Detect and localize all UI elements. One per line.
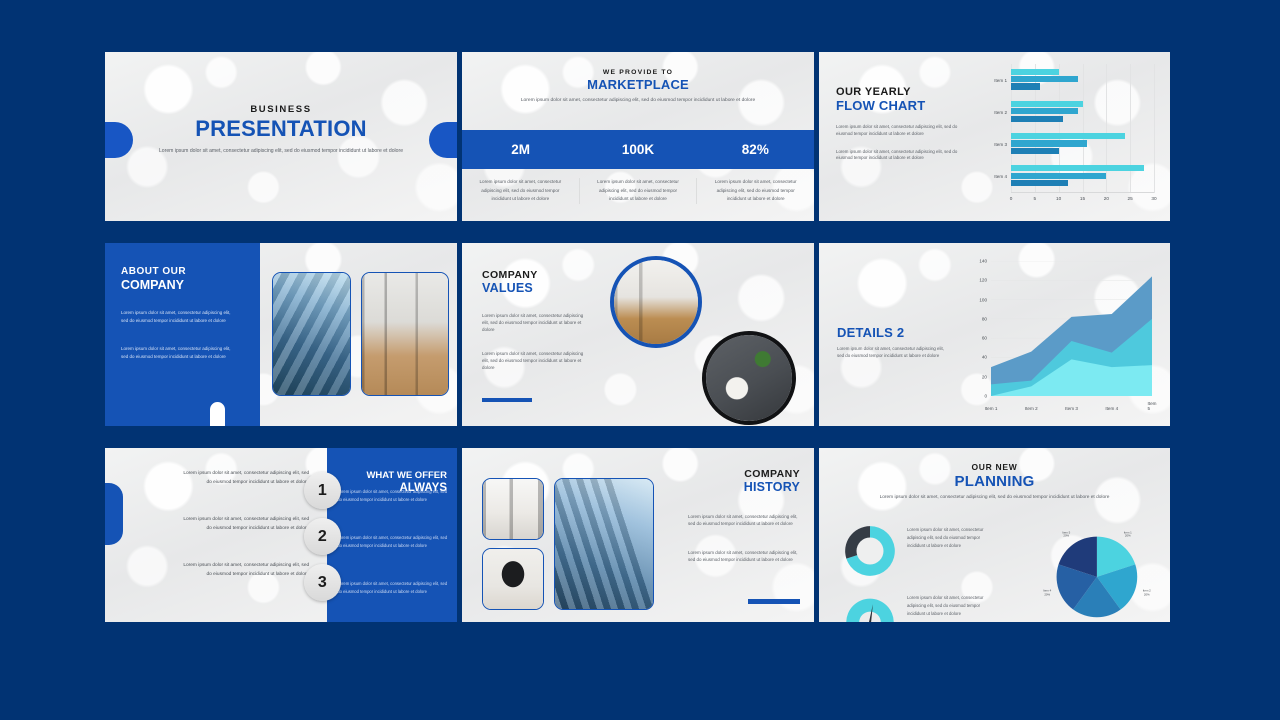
slide7-eyebrow: WHAT WE OFFER <box>327 470 447 481</box>
bar-x-tick-label: 20 <box>1104 196 1109 201</box>
bar-segment <box>1011 140 1087 146</box>
slide8-paragraph-1: Lorem ipsum dolor sit amet, consectetur … <box>688 514 800 528</box>
area-x-tick-label: Item 1 <box>985 406 998 411</box>
bar-segment <box>1011 180 1068 186</box>
slide-slot-1: BUSINESS PRESENTATION Lorem ipsum dolor … <box>105 52 462 243</box>
slide3-eyebrow: OUR YEARLY <box>836 86 964 98</box>
area-y-tick-label: 100 <box>959 297 987 302</box>
white-pill-shape <box>210 402 225 426</box>
slide4-paragraph-2: Lorem ipsum dolor sit amet, consectetur … <box>121 345 231 362</box>
area-y-tick-label: 80 <box>959 316 987 321</box>
stat-text-2: Lorem ipsum dolor sit amet, consectetur … <box>579 178 697 204</box>
bar-x-tick-label: 0 <box>1010 196 1013 201</box>
area-x-tick-label: Item 3 <box>1065 406 1078 411</box>
slide2-paragraph: Lorem ipsum dolor sit amet, consectetur … <box>462 96 814 105</box>
bar-category-label: Item 1 <box>973 78 1007 83</box>
blue-panel: ABOUT OUR COMPANY Lorem ipsum dolor sit … <box>105 243 260 426</box>
slide3-paragraph-1: Lorem ipsum dolor sit amet, consectetur … <box>836 124 964 138</box>
offer-right-text: Lorem ipsum dolor sit amet, consectetur … <box>337 534 449 550</box>
company-values-slide[interactable]: COMPANY VALUES Lorem ipsum dolor sit ame… <box>462 243 814 426</box>
slide8-title: HISTORY <box>670 480 800 494</box>
planning-slide[interactable]: OUR NEW PLANNING Lorem ipsum dolor sit a… <box>819 448 1170 622</box>
slide9-header: OUR NEW PLANNING Lorem ipsum dolor sit a… <box>819 448 1170 503</box>
slide-slot-3: OUR YEARLY FLOW CHART Lorem ipsum dolor … <box>819 52 1175 243</box>
slide3-text-block: OUR YEARLY FLOW CHART Lorem ipsum dolor … <box>836 86 964 162</box>
bar-segment <box>1011 83 1040 89</box>
bar-segment <box>1011 133 1125 139</box>
slide3-paragraph-2: Lorem ipsum dolor sit amet, consectetur … <box>836 149 964 163</box>
pie-slice-label: Item 220% <box>1143 590 1151 597</box>
bar-x-axis-line <box>1011 192 1154 193</box>
bar-gridline <box>1154 64 1155 193</box>
bar-x-tick-label: 15 <box>1080 196 1085 201</box>
photo-desk-overhead-circle <box>702 331 796 425</box>
bar-group: Item 2 <box>1011 96 1154 128</box>
slide6-title: DETAILS 2 <box>837 325 952 340</box>
bar-x-axis-ticks: 051015202530 <box>1011 196 1154 206</box>
area-y-tick-label: 120 <box>959 278 987 283</box>
bar-segment <box>1011 116 1063 122</box>
donut-svg <box>843 524 897 578</box>
slide-slot-4: ABOUT OUR COMPANY Lorem ipsum dolor sit … <box>105 243 462 448</box>
offer-left-text: Lorem ipsum dolor sit amet, consectetur … <box>181 470 309 488</box>
offer-step-number[interactable]: 1 <box>304 472 341 509</box>
slide-slot-2: WE PROVIDE TO MARKETPLACE Lorem ipsum do… <box>462 52 819 243</box>
gauge-chart <box>843 594 897 622</box>
donut-chart <box>843 524 897 578</box>
slide8-eyebrow: COMPANY <box>670 468 800 480</box>
slide5-paragraph-2: Lorem ipsum dolor sit amet, consectetur … <box>482 351 590 372</box>
offer-left-text: Lorem ipsum dolor sit amet, consectetur … <box>181 516 309 534</box>
marketplace-slide[interactable]: WE PROVIDE TO MARKETPLACE Lorem ipsum do… <box>462 52 814 221</box>
slide1-title: PRESENTATION <box>105 116 457 142</box>
left-blue-tab <box>105 483 123 545</box>
gauge-svg <box>843 594 897 622</box>
slide-deck-grid: BUSINESS PRESENTATION Lorem ipsum dolor … <box>105 52 1175 668</box>
slide2-header: WE PROVIDE TO MARKETPLACE Lorem ipsum do… <box>462 52 814 105</box>
stat-value-2: 100K <box>579 142 696 157</box>
bar-x-tick-label: 5 <box>1034 196 1037 201</box>
stat-text-1: Lorem ipsum dolor sit amet, consectetur … <box>462 178 579 204</box>
slide2-title: MARKETPLACE <box>462 77 814 92</box>
about-company-slide[interactable]: ABOUT OUR COMPANY Lorem ipsum dolor sit … <box>105 243 457 426</box>
area-x-tick-label: Item 2 <box>1025 406 1038 411</box>
slide1-paragraph: Lorem ipsum dolor sit amet, consectetur … <box>105 147 457 156</box>
offer-left-text: Lorem ipsum dolor sit amet, consectetur … <box>181 562 309 580</box>
slide-slot-9: OUR NEW PLANNING Lorem ipsum dolor sit a… <box>819 448 1175 644</box>
bar-group: Item 4 <box>1011 161 1154 193</box>
bar-category-label: Item 4 <box>973 174 1007 179</box>
stat-value-3: 82% <box>697 142 814 157</box>
photo-office-corridor <box>361 272 449 396</box>
bar-x-tick-label: 25 <box>1128 196 1133 201</box>
slide5-eyebrow: COMPANY <box>482 269 538 281</box>
title-slide[interactable]: BUSINESS PRESENTATION Lorem ipsum dolor … <box>105 52 457 221</box>
blue-underline <box>482 398 532 402</box>
bar-segment <box>1011 69 1059 75</box>
area-y-tick-label: 40 <box>959 355 987 360</box>
slide9-title: PLANNING <box>819 473 1170 490</box>
pie-slice-label: Item 420% <box>1043 590 1051 597</box>
slide-slot-7: WHAT WE OFFER ALWAYS Lorem ipsum dolor s… <box>105 448 462 644</box>
slide1-eyebrow: BUSINESS <box>105 104 457 115</box>
slide9-paragraph: Lorem ipsum dolor sit amet, consectetur … <box>819 494 1170 503</box>
slide3-title: FLOW CHART <box>836 98 964 113</box>
area-plot-area <box>991 261 1152 396</box>
bar-group: Item 1 <box>1011 64 1154 96</box>
slide4-title: COMPANY <box>121 278 184 292</box>
offer-step-number[interactable]: 3 <box>304 564 341 601</box>
slide2-eyebrow: WE PROVIDE TO <box>462 69 814 76</box>
donut-description: Lorem ipsum dolor sit amet, consectetur … <box>907 526 987 550</box>
photo-skyscraper <box>554 478 654 610</box>
slide-slot-5: COMPANY VALUES Lorem ipsum dolor sit ame… <box>462 243 819 448</box>
bar-group: Item 3 <box>1011 129 1154 161</box>
flow-chart-slide[interactable]: OUR YEARLY FLOW CHART Lorem ipsum dolor … <box>819 52 1170 221</box>
horizontal-bar-chart: Item 1Item 2Item 3Item 4 051015202530 <box>971 62 1160 211</box>
photo-area <box>260 243 457 426</box>
donut-hole <box>857 538 884 565</box>
slide4-paragraph-1: Lorem ipsum dolor sit amet, consectetur … <box>121 309 231 326</box>
blue-underline <box>748 599 800 604</box>
bar-segment <box>1011 173 1106 179</box>
area-y-tick-label: 20 <box>959 374 987 379</box>
slide9-eyebrow: OUR NEW <box>819 462 1170 472</box>
area-y-tick-label: 60 <box>959 336 987 341</box>
bar-category-label: Item 3 <box>973 142 1007 147</box>
bar-segment <box>1011 76 1078 82</box>
stats-description-row: Lorem ipsum dolor sit amet, consectetur … <box>462 178 814 204</box>
offer-right-text: Lorem ipsum dolor sit amet, consectetur … <box>337 580 449 596</box>
bar-segment <box>1011 101 1083 107</box>
title-block: BUSINESS PRESENTATION Lorem ipsum dolor … <box>105 104 457 156</box>
photo-workstation <box>482 548 544 610</box>
stats-band: 2M 100K 82% <box>462 130 814 169</box>
area-x-tick-label: Item 5 <box>1148 401 1157 411</box>
area-y-tick-label: 0 <box>959 394 987 399</box>
company-history-slide[interactable]: COMPANY HISTORY Lorem ipsum dolor sit am… <box>462 448 814 622</box>
bar-x-tick-label: 30 <box>1151 196 1156 201</box>
slide6-paragraph: Lorem ipsum dolor sit amet, consectetur … <box>837 346 952 360</box>
bar-x-tick-label: 10 <box>1056 196 1061 201</box>
area-chart: 020406080100120140Item 1Item 2Item 3Item… <box>959 255 1158 416</box>
slide5-title: VALUES <box>482 281 533 295</box>
stat-text-3: Lorem ipsum dolor sit amet, consectetur … <box>696 178 814 204</box>
bar-segment <box>1011 108 1078 114</box>
slide-slot-6: DETAILS 2 Lorem ipsum dolor sit amet, co… <box>819 243 1175 448</box>
bar-segment <box>1011 148 1059 154</box>
slide6-text-block: DETAILS 2 Lorem ipsum dolor sit amet, co… <box>837 325 952 360</box>
slide8-paragraph-2: Lorem ipsum dolor sit amet, consectetur … <box>688 550 800 564</box>
area-chart-svg <box>991 261 1152 396</box>
pie-chart: Item 120%Item 220%Item 320%Item 420%Item… <box>1042 522 1152 622</box>
bar-plot-area: Item 1Item 2Item 3Item 4 <box>1011 64 1154 193</box>
slide5-paragraph-1: Lorem ipsum dolor sit amet, consectetur … <box>482 313 590 334</box>
details-2-slide[interactable]: DETAILS 2 Lorem ipsum dolor sit amet, co… <box>819 243 1170 426</box>
gauge-description: Lorem ipsum dolor sit amet, consectetur … <box>907 594 987 618</box>
photo-open-office-circle <box>610 256 702 348</box>
photo-meeting-room <box>482 478 544 540</box>
area-x-tick-label: Item 4 <box>1105 406 1118 411</box>
offer-right-text: Lorem ipsum dolor sit amet, consectetur … <box>337 488 449 504</box>
slide-slot-8: COMPANY HISTORY Lorem ipsum dolor sit am… <box>462 448 819 644</box>
photo-glass-tower <box>272 272 351 396</box>
bar-segment <box>1011 165 1144 171</box>
pie-svg <box>1054 534 1140 620</box>
offer-step-number[interactable]: 2 <box>304 518 341 555</box>
area-y-tick-label: 140 <box>959 259 987 264</box>
bar-category-label: Item 2 <box>973 110 1007 115</box>
stat-value-1: 2M <box>462 142 579 157</box>
what-we-offer-slide[interactable]: WHAT WE OFFER ALWAYS Lorem ipsum dolor s… <box>105 448 457 622</box>
slide4-eyebrow: ABOUT OUR <box>121 266 186 277</box>
